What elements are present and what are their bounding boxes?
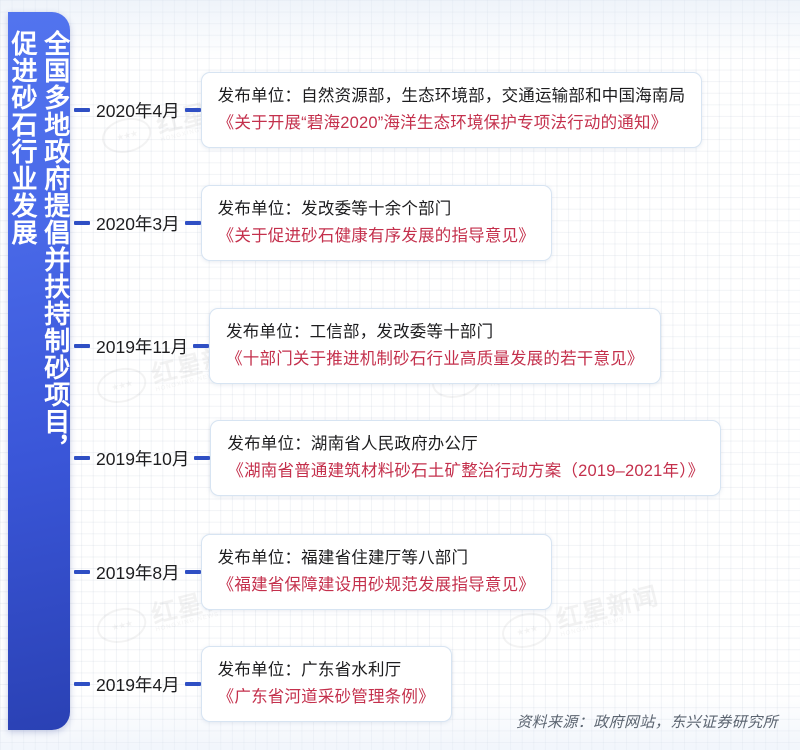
connector-dash-left-icon xyxy=(74,682,90,686)
timeline-date: 2019年10月 xyxy=(96,446,189,471)
connector-dash-left-icon xyxy=(74,456,90,460)
policy-title: 《关于促进砂石健康有序发展的指导意见》 xyxy=(218,223,535,250)
headline-panel: 全国多地政府提倡并扶持制砂项目， 促进砂石行业发展 xyxy=(8,12,70,730)
policy-card[interactable]: 发布单位：自然资源部，生态环境部，交通运输部和中国海南局 《关于开展“碧海202… xyxy=(201,72,703,148)
timeline-row: 2020年4月 发布单位：自然资源部，生态环境部，交通运输部和中国海南局 《关于… xyxy=(74,72,702,148)
connector-dash-left-icon xyxy=(74,108,90,112)
timeline-row: 2019年11月 发布单位：工信部，发改委等十部门 《十部门关于推进机制砂石行业… xyxy=(74,308,661,384)
timeline-date: 2019年4月 xyxy=(96,672,180,697)
connector-dash-right-icon xyxy=(185,108,201,112)
policy-card[interactable]: 发布单位：发改委等十余个部门 《关于促进砂石健康有序发展的指导意见》 xyxy=(201,185,552,261)
timeline-date: 2020年4月 xyxy=(96,98,180,123)
policy-issuer: 发布单位：福建省住建厅等八部门 xyxy=(218,545,535,572)
connector-dash-right-icon xyxy=(185,682,201,686)
policy-card[interactable]: 发布单位：工信部，发改委等十部门 《十部门关于推进机制砂石行业高质量发展的若干意… xyxy=(209,308,661,384)
policy-card[interactable]: 发布单位：广东省水利厅 《广东省河道采砂管理条例》 xyxy=(201,646,452,722)
timeline-row: 2020年3月 发布单位：发改委等十余个部门 《关于促进砂石健康有序发展的指导意… xyxy=(74,185,552,261)
timeline-date: 2019年8月 xyxy=(96,560,180,585)
timeline-row: 2019年10月 发布单位：湖南省人民政府办公厅 《湖南省普通建筑材料砂石土矿整… xyxy=(74,420,721,496)
policy-issuer: 发布单位：湖南省人民政府办公厅 xyxy=(227,431,704,458)
policy-title: 《关于开展“碧海2020”海洋生态环境保护专项法行动的通知》 xyxy=(218,110,686,137)
headline-panel-text: 全国多地政府提倡并扶持制砂项目， 促进砂石行业发展 xyxy=(6,30,72,462)
policy-title: 《十部门关于推进机制砂石行业高质量发展的若干意见》 xyxy=(226,346,644,373)
connector-dash-right-icon xyxy=(185,570,201,574)
timeline-row: 2019年8月 发布单位：福建省住建厅等八部门 《福建省保障建设用砂规范发展指导… xyxy=(74,534,552,610)
timeline-row: 2019年4月 发布单位：广东省水利厅 《广东省河道采砂管理条例》 xyxy=(74,646,452,722)
connector-dash-right-icon xyxy=(193,344,209,348)
connector-dash-left-icon xyxy=(74,344,90,348)
policy-title: 《湖南省普通建筑材料砂石土矿整治行动方案（2019–2021年）》 xyxy=(227,458,704,485)
policy-issuer: 发布单位：工信部，发改委等十部门 xyxy=(226,319,644,346)
policy-issuer: 发布单位：广东省水利厅 xyxy=(218,657,435,684)
connector-dash-right-icon xyxy=(194,456,210,460)
policy-title: 《福建省保障建设用砂规范发展指导意见》 xyxy=(218,572,535,599)
policy-issuer: 发布单位：发改委等十余个部门 xyxy=(218,196,535,223)
connector-dash-right-icon xyxy=(185,221,201,225)
policy-card[interactable]: 发布单位：福建省住建厅等八部门 《福建省保障建设用砂规范发展指导意见》 xyxy=(201,534,552,610)
policy-issuer: 发布单位：自然资源部，生态环境部，交通运输部和中国海南局 xyxy=(218,83,686,110)
timeline-date: 2020年3月 xyxy=(96,211,180,236)
policy-card[interactable]: 发布单位：湖南省人民政府办公厅 《湖南省普通建筑材料砂石土矿整治行动方案（201… xyxy=(210,420,721,496)
policy-title: 《广东省河道采砂管理条例》 xyxy=(218,684,435,711)
connector-dash-left-icon xyxy=(74,221,90,225)
source-note: 资料来源：政府网站，东兴证券研究所 xyxy=(516,711,778,732)
timeline-date: 2019年11月 xyxy=(96,334,188,359)
connector-dash-left-icon xyxy=(74,570,90,574)
